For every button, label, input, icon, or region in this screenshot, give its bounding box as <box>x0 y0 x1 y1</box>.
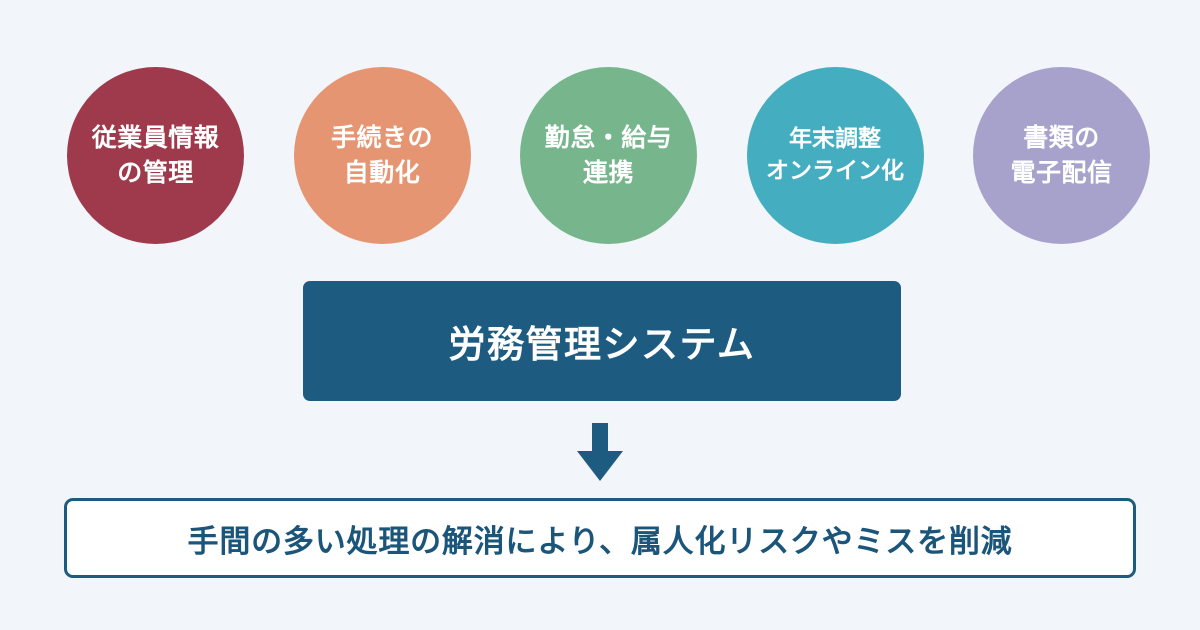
system-box: 労務管理システム <box>303 281 901 401</box>
feature-label-line1: 年末調整 <box>789 124 881 156</box>
diagram-canvas: 従業員情報 の管理 手続きの 自動化 勤怠・給与 連携 年末調整 オンライン化 … <box>0 0 1200 630</box>
feature-circle-year-end-adjustment-online: 年末調整 オンライン化 <box>747 67 924 244</box>
feature-label-line1: 手続きの <box>331 121 433 156</box>
conclusion-box: 手間の多い処理の解消により、属人化リスクやミスを削減 <box>64 498 1136 578</box>
feature-label-line1: 書類の <box>1023 121 1100 156</box>
feature-circle-attendance-payroll-linkage: 勤怠・給与 連携 <box>520 67 697 244</box>
feature-label-line2: 電子配信 <box>1010 156 1112 191</box>
feature-circle-employee-info-management: 従業員情報 の管理 <box>67 67 244 244</box>
feature-label-line2: 自動化 <box>344 156 421 191</box>
feature-circle-procedure-automation: 手続きの 自動化 <box>294 67 471 244</box>
conclusion-label: 手間の多い処理の解消により、属人化リスクやミスを削減 <box>188 516 1013 561</box>
arrow-down-icon <box>570 421 630 483</box>
system-box-label: 労務管理システム <box>449 314 756 368</box>
feature-label-line1: 勤怠・給与 <box>545 121 673 156</box>
feature-label-line2: 連携 <box>583 156 634 191</box>
feature-circle-row: 従業員情報 の管理 手続きの 自動化 勤怠・給与 連携 年末調整 オンライン化 … <box>67 67 1150 244</box>
feature-circle-document-electronic-delivery: 書類の 電子配信 <box>973 67 1150 244</box>
feature-label-line2: オンライン化 <box>766 156 904 188</box>
feature-label-line2: の管理 <box>117 156 194 191</box>
feature-label-line1: 従業員情報 <box>92 121 220 156</box>
